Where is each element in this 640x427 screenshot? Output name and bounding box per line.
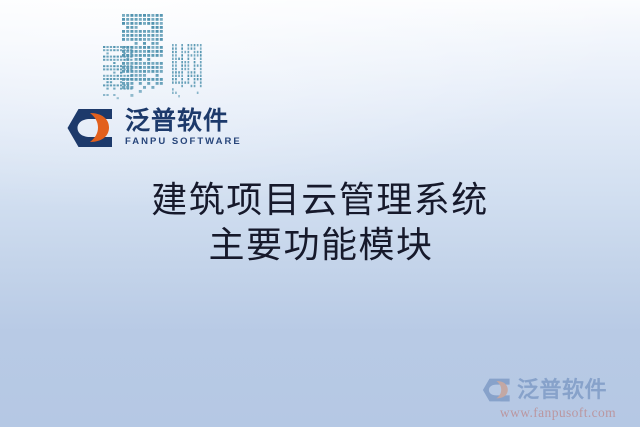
slide-title-line-1: 建筑项目云管理系统 (0, 178, 640, 223)
brand-name-cn: 泛普软件 (125, 109, 242, 134)
watermark: 泛普软件 www.fanpusoft.com (482, 377, 634, 421)
brand-logo: 泛普软件 FANPU SOFTWARE (66, 107, 242, 149)
watermark-url: www.fanpusoft.com (482, 405, 634, 421)
brand-wordmark: 泛普软件 FANPU SOFTWARE (125, 109, 242, 147)
brand-name-en: FANPU SOFTWARE (125, 137, 242, 147)
fanpu-hexagon-logo-watermark-icon (482, 377, 512, 403)
presentation-slide: 泛普软件 FANPU SOFTWARE 建筑项目云管理系统 主要功能模块 泛普软… (0, 0, 640, 427)
watermark-logo-row: 泛普软件 (482, 377, 634, 403)
slide-title-line-2: 主要功能模块 (2, 223, 640, 268)
watermark-name-cn: 泛普软件 (517, 379, 607, 401)
fanpu-hexagon-logo-icon (66, 107, 116, 149)
slide-title: 建筑项目云管理系统 主要功能模块 (0, 178, 640, 268)
pixel-city-skyline-icon (100, 4, 210, 108)
